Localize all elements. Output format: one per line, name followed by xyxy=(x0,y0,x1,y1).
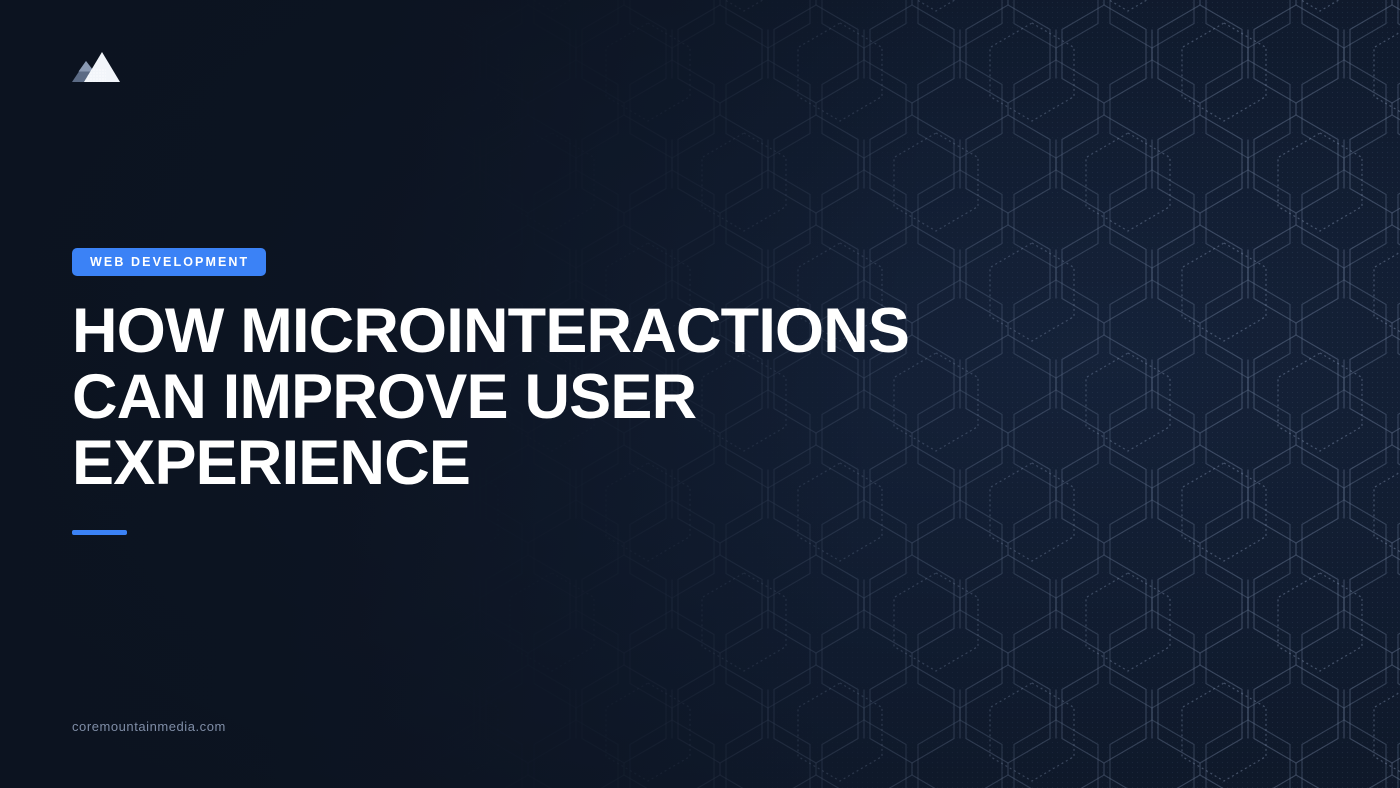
site-url[interactable]: coremountainmedia.com xyxy=(72,718,226,736)
cover-canvas: WEB DEVELOPMENT How Microinteractions Ca… xyxy=(0,0,1400,788)
brand-logo[interactable] xyxy=(72,48,124,88)
hero-content: WEB DEVELOPMENT How Microinteractions Ca… xyxy=(72,248,1052,535)
category-badge[interactable]: WEB DEVELOPMENT xyxy=(72,248,266,276)
page-title: How Microinteractions Can Improve User E… xyxy=(72,298,1032,496)
accent-divider xyxy=(72,530,127,535)
